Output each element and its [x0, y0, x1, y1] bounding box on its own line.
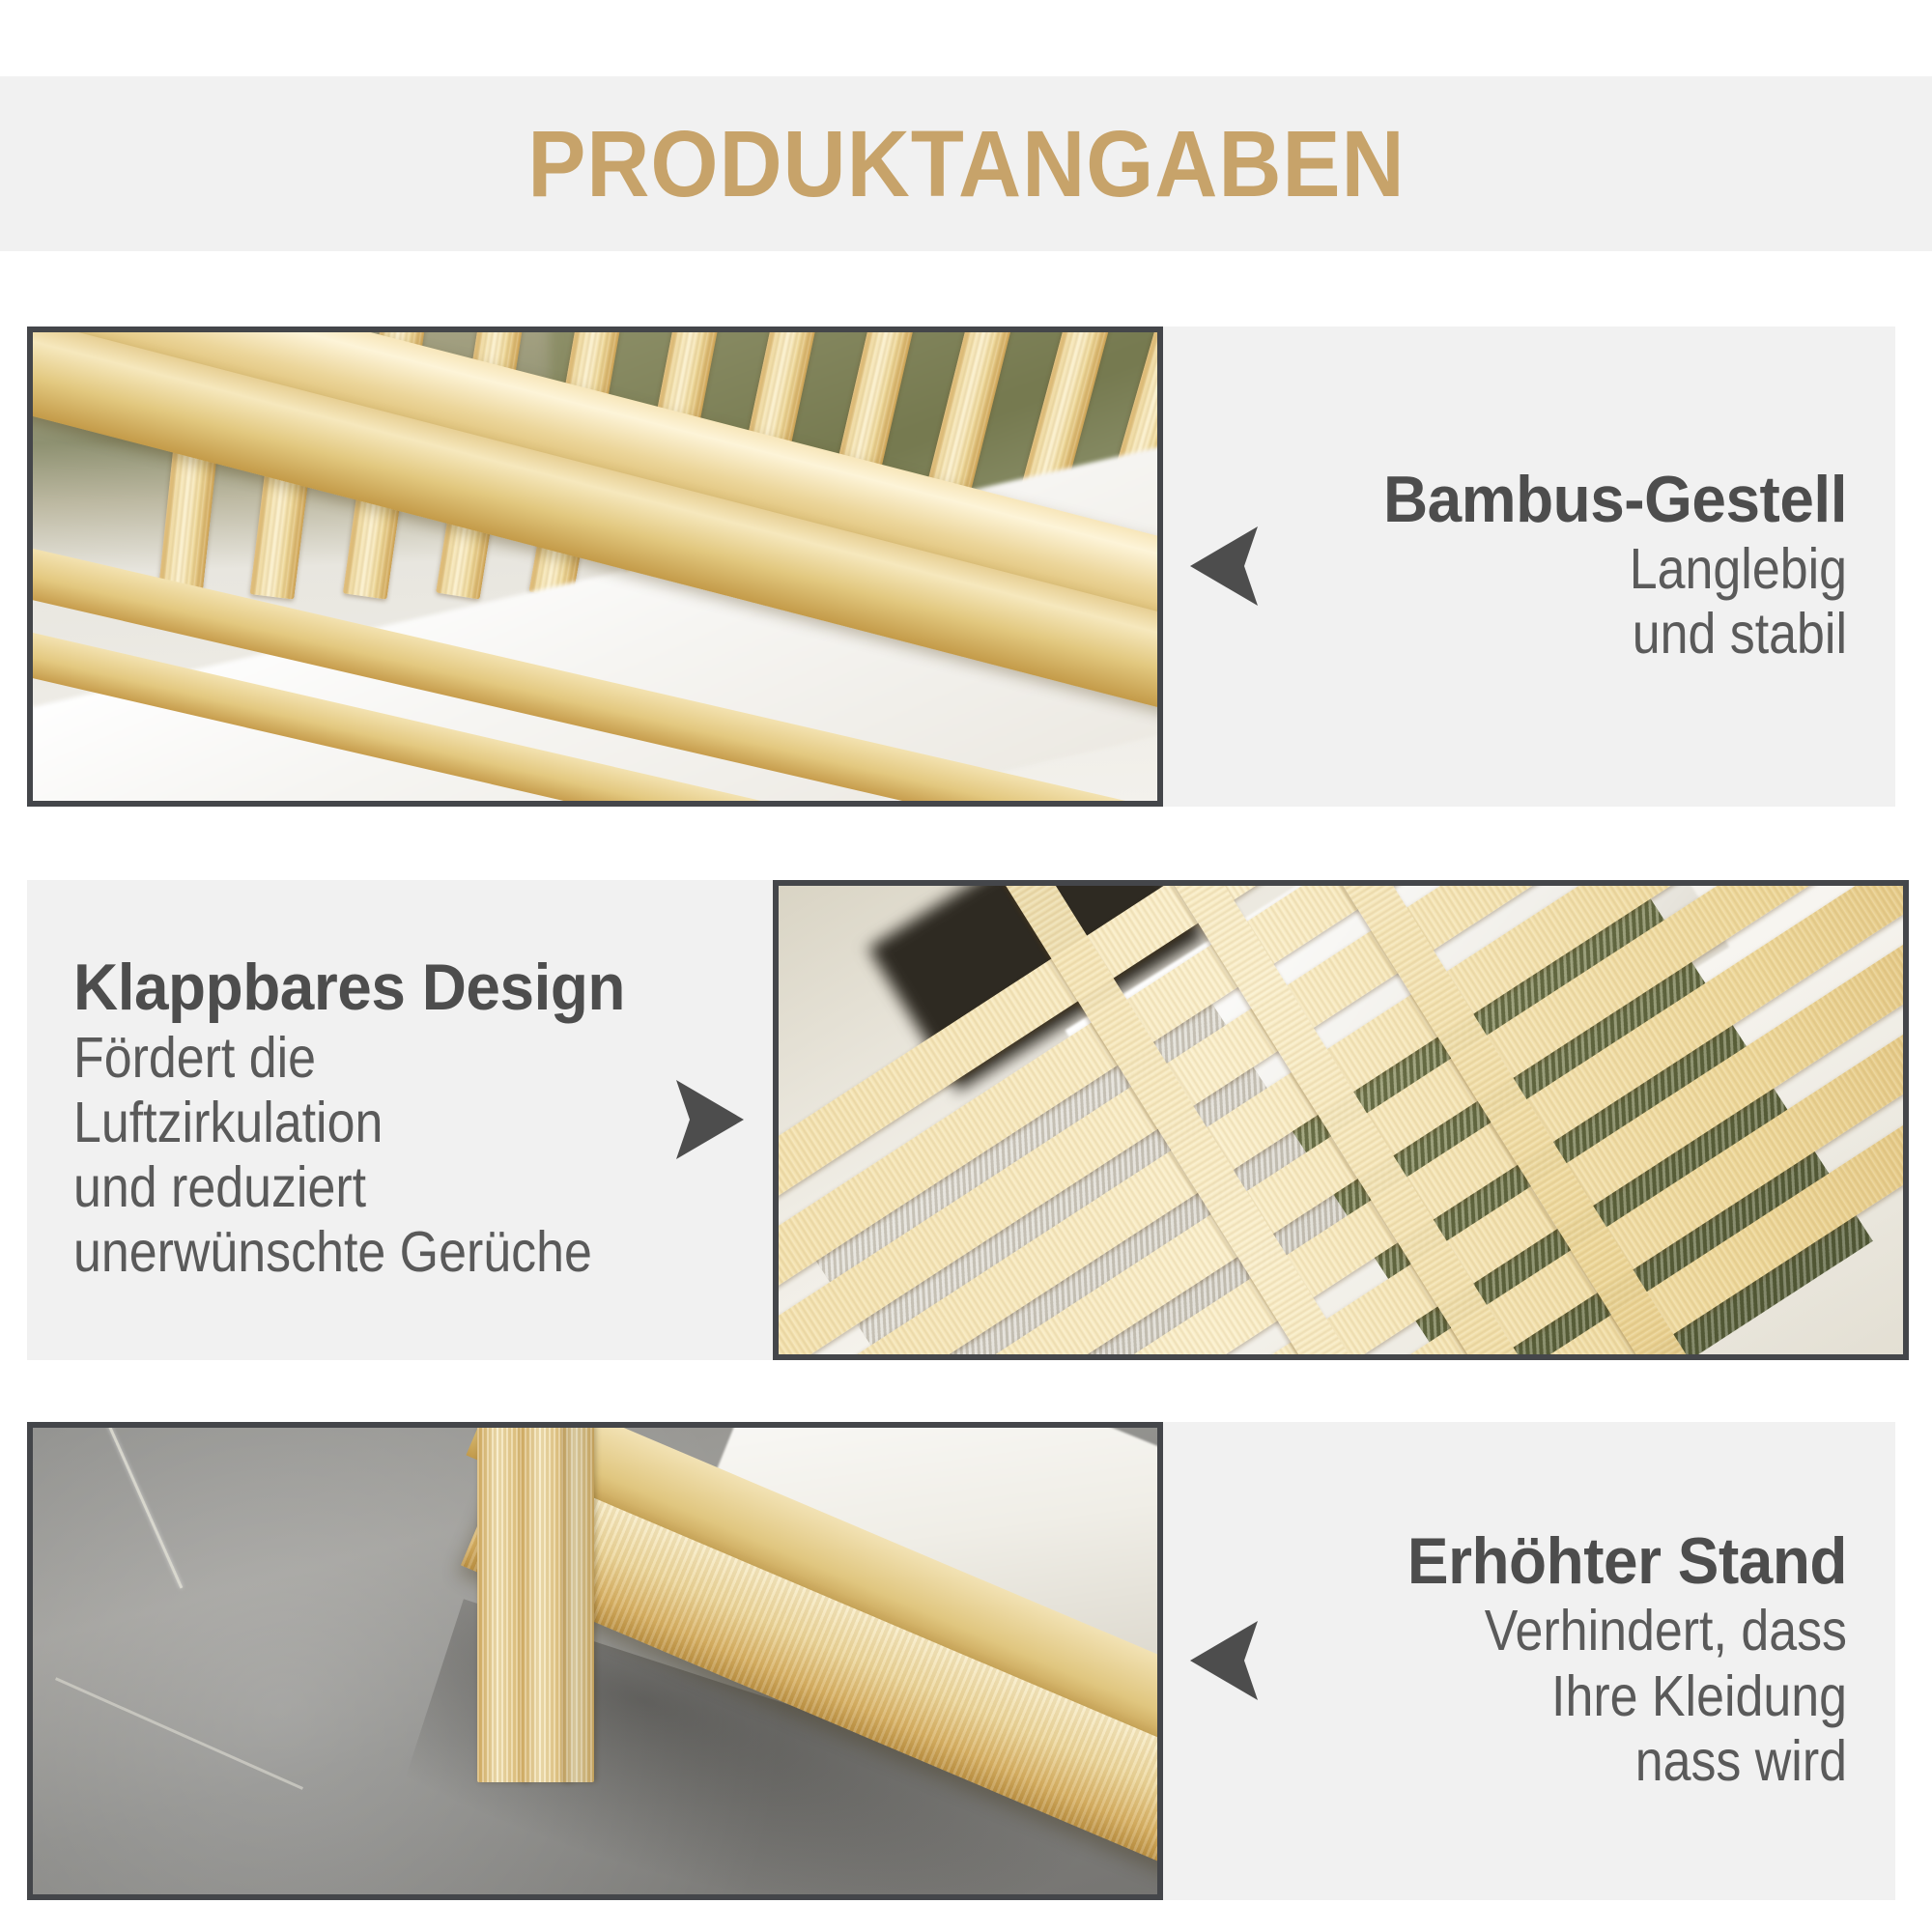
page-title: PRODUKTANGABEN — [527, 117, 1405, 211]
feature-heading-bambus-gestell: Bambus-Gestell — [1306, 467, 1847, 533]
feature-body-bambus-gestell: Langlebig und stabil — [1341, 537, 1847, 668]
feature-body-line: unerwünschte Gerüche — [73, 1220, 592, 1285]
feature-copy-bambus-gestell: Bambus-Gestell Langlebig und stabil — [1271, 467, 1847, 668]
feature-text-panel-erhoehter-stand: Erhöhter Stand Verhindert, dass Ihre Kle… — [1163, 1422, 1895, 1900]
feature-photo-erhoehter-stand — [27, 1422, 1163, 1900]
feature-photo-bambus-gestell — [27, 327, 1163, 807]
feature-body-line: und stabil — [1341, 602, 1847, 667]
callout-erhoehter-stand: Erhöhter Stand Verhindert, dass Ihre Kle… — [1180, 1528, 1847, 1794]
header-band: PRODUKTANGABEN — [0, 76, 1932, 251]
feature-body-line: Langlebig — [1341, 537, 1847, 602]
feature-heading-klappbares-design: Klappbares Design — [73, 954, 627, 1021]
arrow-right-icon — [670, 1078, 746, 1161]
feature-row-klappbares-design: Klappbares Design Fördert die Luftzirkul… — [27, 880, 1895, 1360]
photo-artwork-bamboo-legs-tile — [33, 1428, 1157, 1894]
photo-artwork-bamboo-rail — [33, 332, 1157, 801]
feature-body-line: Luftzirkulation — [73, 1091, 592, 1155]
feature-copy-erhoehter-stand: Erhöhter Stand Verhindert, dass Ihre Kle… — [1271, 1528, 1847, 1794]
callout-bambus-gestell: Bambus-Gestell Langlebig und stabil — [1180, 467, 1847, 668]
photo-slats-cross — [773, 880, 1909, 1360]
feature-body-line: Ihre Kleidung — [1341, 1664, 1847, 1729]
feature-text-panel-klappbares-design: Klappbares Design Fördert die Luftzirkul… — [27, 880, 773, 1360]
feature-body-line: nass wird — [1341, 1729, 1847, 1794]
feature-heading-erhoehter-stand: Erhöhter Stand — [1306, 1528, 1847, 1595]
arrow-left-icon — [1188, 1619, 1264, 1702]
feature-body-klappbares-design: Fördert die Luftzirkulation und reduzier… — [73, 1026, 592, 1286]
arrow-left-icon — [1188, 525, 1264, 608]
feature-row-erhoehter-stand: Erhöhter Stand Verhindert, dass Ihre Kle… — [27, 1422, 1895, 1900]
feature-copy-klappbares-design: Klappbares Design Fördert die Luftzirkul… — [73, 954, 663, 1285]
feature-photo-klappbares-design — [773, 880, 1909, 1360]
feature-body-line: und reduziert — [73, 1155, 592, 1220]
callout-klappbares-design: Klappbares Design Fördert die Luftzirkul… — [73, 954, 753, 1285]
feature-body-line: Verhindert, dass — [1341, 1599, 1847, 1663]
feature-row-bambus-gestell: Bambus-Gestell Langlebig und stabil — [27, 327, 1895, 807]
feature-body-erhoehter-stand: Verhindert, dass Ihre Kleidung nass wird — [1341, 1599, 1847, 1794]
feature-body-line: Fördert die — [73, 1026, 592, 1091]
photo-artwork-bamboo-slats-towels — [779, 886, 1903, 1354]
feature-text-panel-bambus-gestell: Bambus-Gestell Langlebig und stabil — [1163, 327, 1895, 807]
